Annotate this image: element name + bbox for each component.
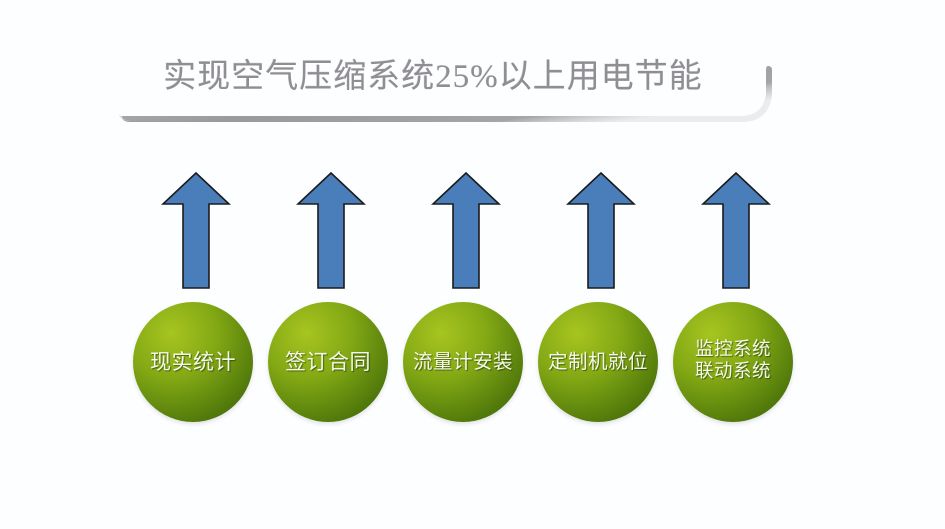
presentation-slide: 实现空气压缩系统25%以上用电节能 现实统计 签订合同 流量计安装 定制机: [0, 0, 945, 529]
page-title: 实现空气压缩系统25%以上用电节能: [118, 30, 748, 116]
step-circle-label-4: 定制机就位: [548, 351, 648, 374]
step-circle-label-1: 现实统计: [150, 350, 236, 375]
up-arrow-icon-5: [701, 171, 771, 291]
step-circle-1[interactable]: 现实统计: [133, 302, 253, 422]
step-circle-2[interactable]: 签订合同: [268, 302, 388, 422]
title-banner: 实现空气压缩系统25%以上用电节能: [118, 30, 794, 126]
step-circle-label-2: 签订合同: [285, 350, 371, 375]
step-circle-5[interactable]: 监控系统 联动系统: [673, 302, 793, 422]
up-arrow-icon-2: [296, 171, 366, 291]
step-circle-4[interactable]: 定制机就位: [538, 302, 658, 422]
step-circle-3[interactable]: 流量计安装: [403, 302, 523, 422]
step-circle-label-5: 监控系统 联动系统: [695, 340, 771, 384]
up-arrow-icon-3: [431, 171, 501, 291]
step-circle-label-3: 流量计安装: [413, 351, 513, 374]
up-arrow-icon-1: [161, 171, 231, 291]
up-arrow-icon-4: [566, 171, 636, 291]
